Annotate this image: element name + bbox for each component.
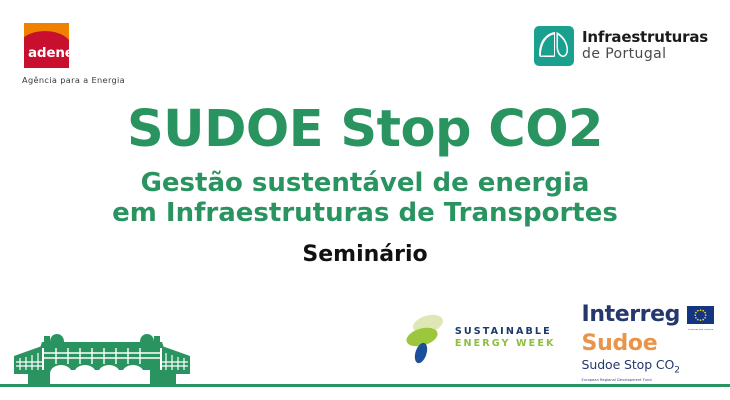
adene-logo-mark: adene xyxy=(24,23,69,68)
sew-line-1: SUSTAINABLE xyxy=(455,326,556,338)
seminar-title-slide: adene Agência para a Energia Infraestrut… xyxy=(0,0,730,400)
infraestruturas-wordmark: Infraestruturas de Portugal xyxy=(582,30,708,61)
infraestruturas-de-portugal-logo: Infraestruturas de Portugal xyxy=(534,26,708,66)
footer-logo-bar: SUSTAINABLE ENERGY WEEK Interreg xyxy=(403,304,714,383)
erdf-fund-note: European Regional Development Fund xyxy=(582,379,714,382)
top-logo-bar: adene Agência para a Energia Infraestrut… xyxy=(0,0,730,95)
adene-logo: adene Agência para a Energia xyxy=(22,23,142,85)
sustainable-energy-week-wordmark: SUSTAINABLE ENERGY WEEK xyxy=(455,326,556,350)
sustainable-energy-week-mark xyxy=(403,312,449,364)
programme-name: Sudoe Stop CO2 xyxy=(582,359,714,376)
sustainable-energy-week-logo: SUSTAINABLE ENERGY WEEK xyxy=(403,304,556,364)
subtitle-line-1: Gestão sustentável de energia xyxy=(0,168,730,199)
infraestruturas-logo-mark xyxy=(534,26,574,66)
infraestruturas-line2: de Portugal xyxy=(582,47,708,62)
subtitle-line-2: em Infraestruturas de Transportes xyxy=(0,198,730,229)
interreg-wordmark: Interreg xyxy=(582,304,680,326)
infraestruturas-line1: Infraestruturas xyxy=(582,30,708,46)
title-block: SUDOE Stop CO2 Gestão sustentável de ene… xyxy=(0,103,730,267)
programme-name-subscript: 2 xyxy=(674,366,680,376)
station-building-illustration xyxy=(6,312,206,392)
adene-mark-wordmark: adene xyxy=(28,45,69,61)
eu-flag-caption: EUROPEAN UNION xyxy=(687,329,714,332)
eu-flag-icon xyxy=(687,306,714,324)
eu-flag-block: EUROPEAN UNION xyxy=(687,304,714,332)
programme-name-text: Sudoe Stop CO xyxy=(582,357,675,372)
interreg-top-row: Interreg xyxy=(582,304,714,332)
page-title: SUDOE Stop CO2 xyxy=(0,103,730,157)
sew-line-2: ENERGY WEEK xyxy=(455,338,556,350)
subtitle-block: Gestão sustentável de energia em Infraes… xyxy=(0,168,730,229)
event-type-label: Seminário xyxy=(0,242,730,267)
interreg-sudoe-logo: Interreg xyxy=(582,304,714,383)
ground-baseline xyxy=(0,384,730,387)
adene-tagline: Agência para a Energia xyxy=(22,75,142,85)
sudoe-wordmark: Sudoe xyxy=(582,333,714,355)
